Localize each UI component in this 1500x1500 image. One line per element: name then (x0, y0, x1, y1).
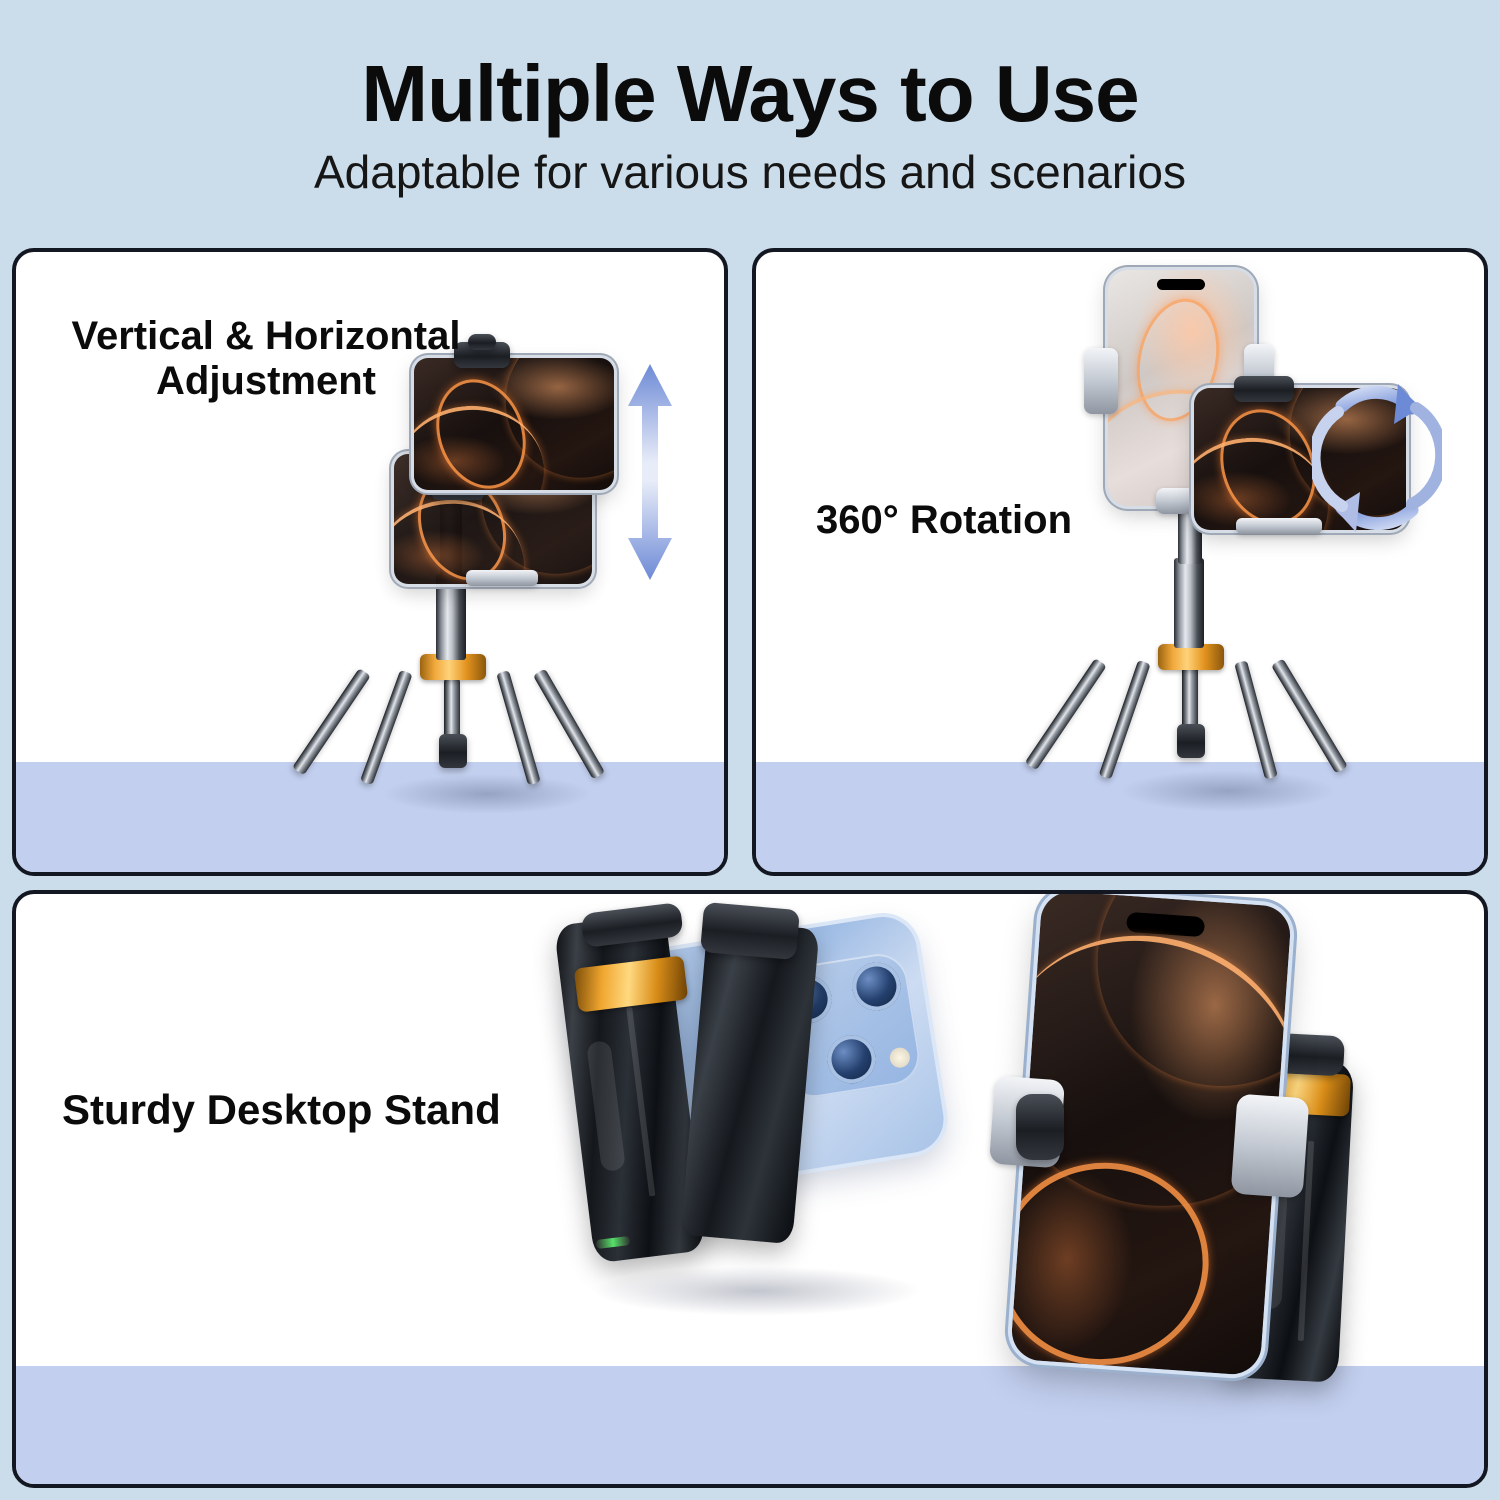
tripod-foot-cap (1177, 724, 1205, 758)
tripod-leg-right (533, 669, 605, 780)
panel-caption-rotation: 360° Rotation (816, 498, 1146, 543)
tripod-leg-left (1025, 658, 1107, 770)
camera-flash (888, 1046, 911, 1069)
page-subtitle: Adaptable for various needs and scenario… (0, 136, 1500, 196)
panel-caption-desktop: Sturdy Desktop Stand (62, 1086, 562, 1133)
tripod-leg-right-inner (1234, 660, 1278, 779)
pole-lower (1174, 558, 1204, 648)
tripod-leg-left-inner (360, 670, 413, 785)
tripod-leg-right-inner (496, 670, 540, 785)
product-desktop-stand-left (552, 914, 1022, 1334)
panel-caption-vertical: Vertical & Horizontal Adjustment (46, 314, 486, 404)
holder-pivot (1016, 1094, 1064, 1160)
holder-arm-left (1084, 348, 1118, 414)
panel-360-rotation: 360° Rotation (752, 248, 1488, 876)
panel-sturdy-desktop-stand: Sturdy Desktop Stand (12, 890, 1488, 1488)
tripod-leg-left (292, 668, 371, 775)
product-selfie-stick-rotation (1086, 262, 1426, 842)
clamp-landscape-arm (1236, 518, 1322, 534)
infographic-canvas: Multiple Ways to Use Adaptable for vario… (0, 0, 1500, 1500)
product-selfie-stick-tripod (346, 342, 676, 842)
camera-lens-bottom (824, 1032, 879, 1087)
holder-arm-right-right-unit (1231, 1094, 1310, 1199)
camera-lens-top-right (849, 959, 904, 1014)
tripod-leg-right (1271, 658, 1348, 773)
clamp-lower-arm (466, 570, 538, 586)
page-title: Multiple Ways to Use (0, 0, 1500, 136)
tripod-foot-cap (439, 734, 467, 768)
ground-shadow-left (592, 1266, 922, 1316)
header: Multiple Ways to Use Adaptable for vario… (0, 0, 1500, 236)
product-desktop-stand-right (996, 898, 1416, 1398)
tripod-leg-left-inner (1099, 660, 1151, 780)
kickstand-hinge (700, 902, 800, 960)
clamp-landscape-head (1234, 376, 1294, 402)
circular-rotation-arrow-icon (1312, 378, 1442, 538)
pole-lower (436, 574, 466, 660)
ground-shadow (1120, 770, 1336, 812)
panel-vertical-adjustment: Vertical & Horizontal Adjustment (12, 248, 728, 876)
ground-shadow (382, 774, 592, 814)
